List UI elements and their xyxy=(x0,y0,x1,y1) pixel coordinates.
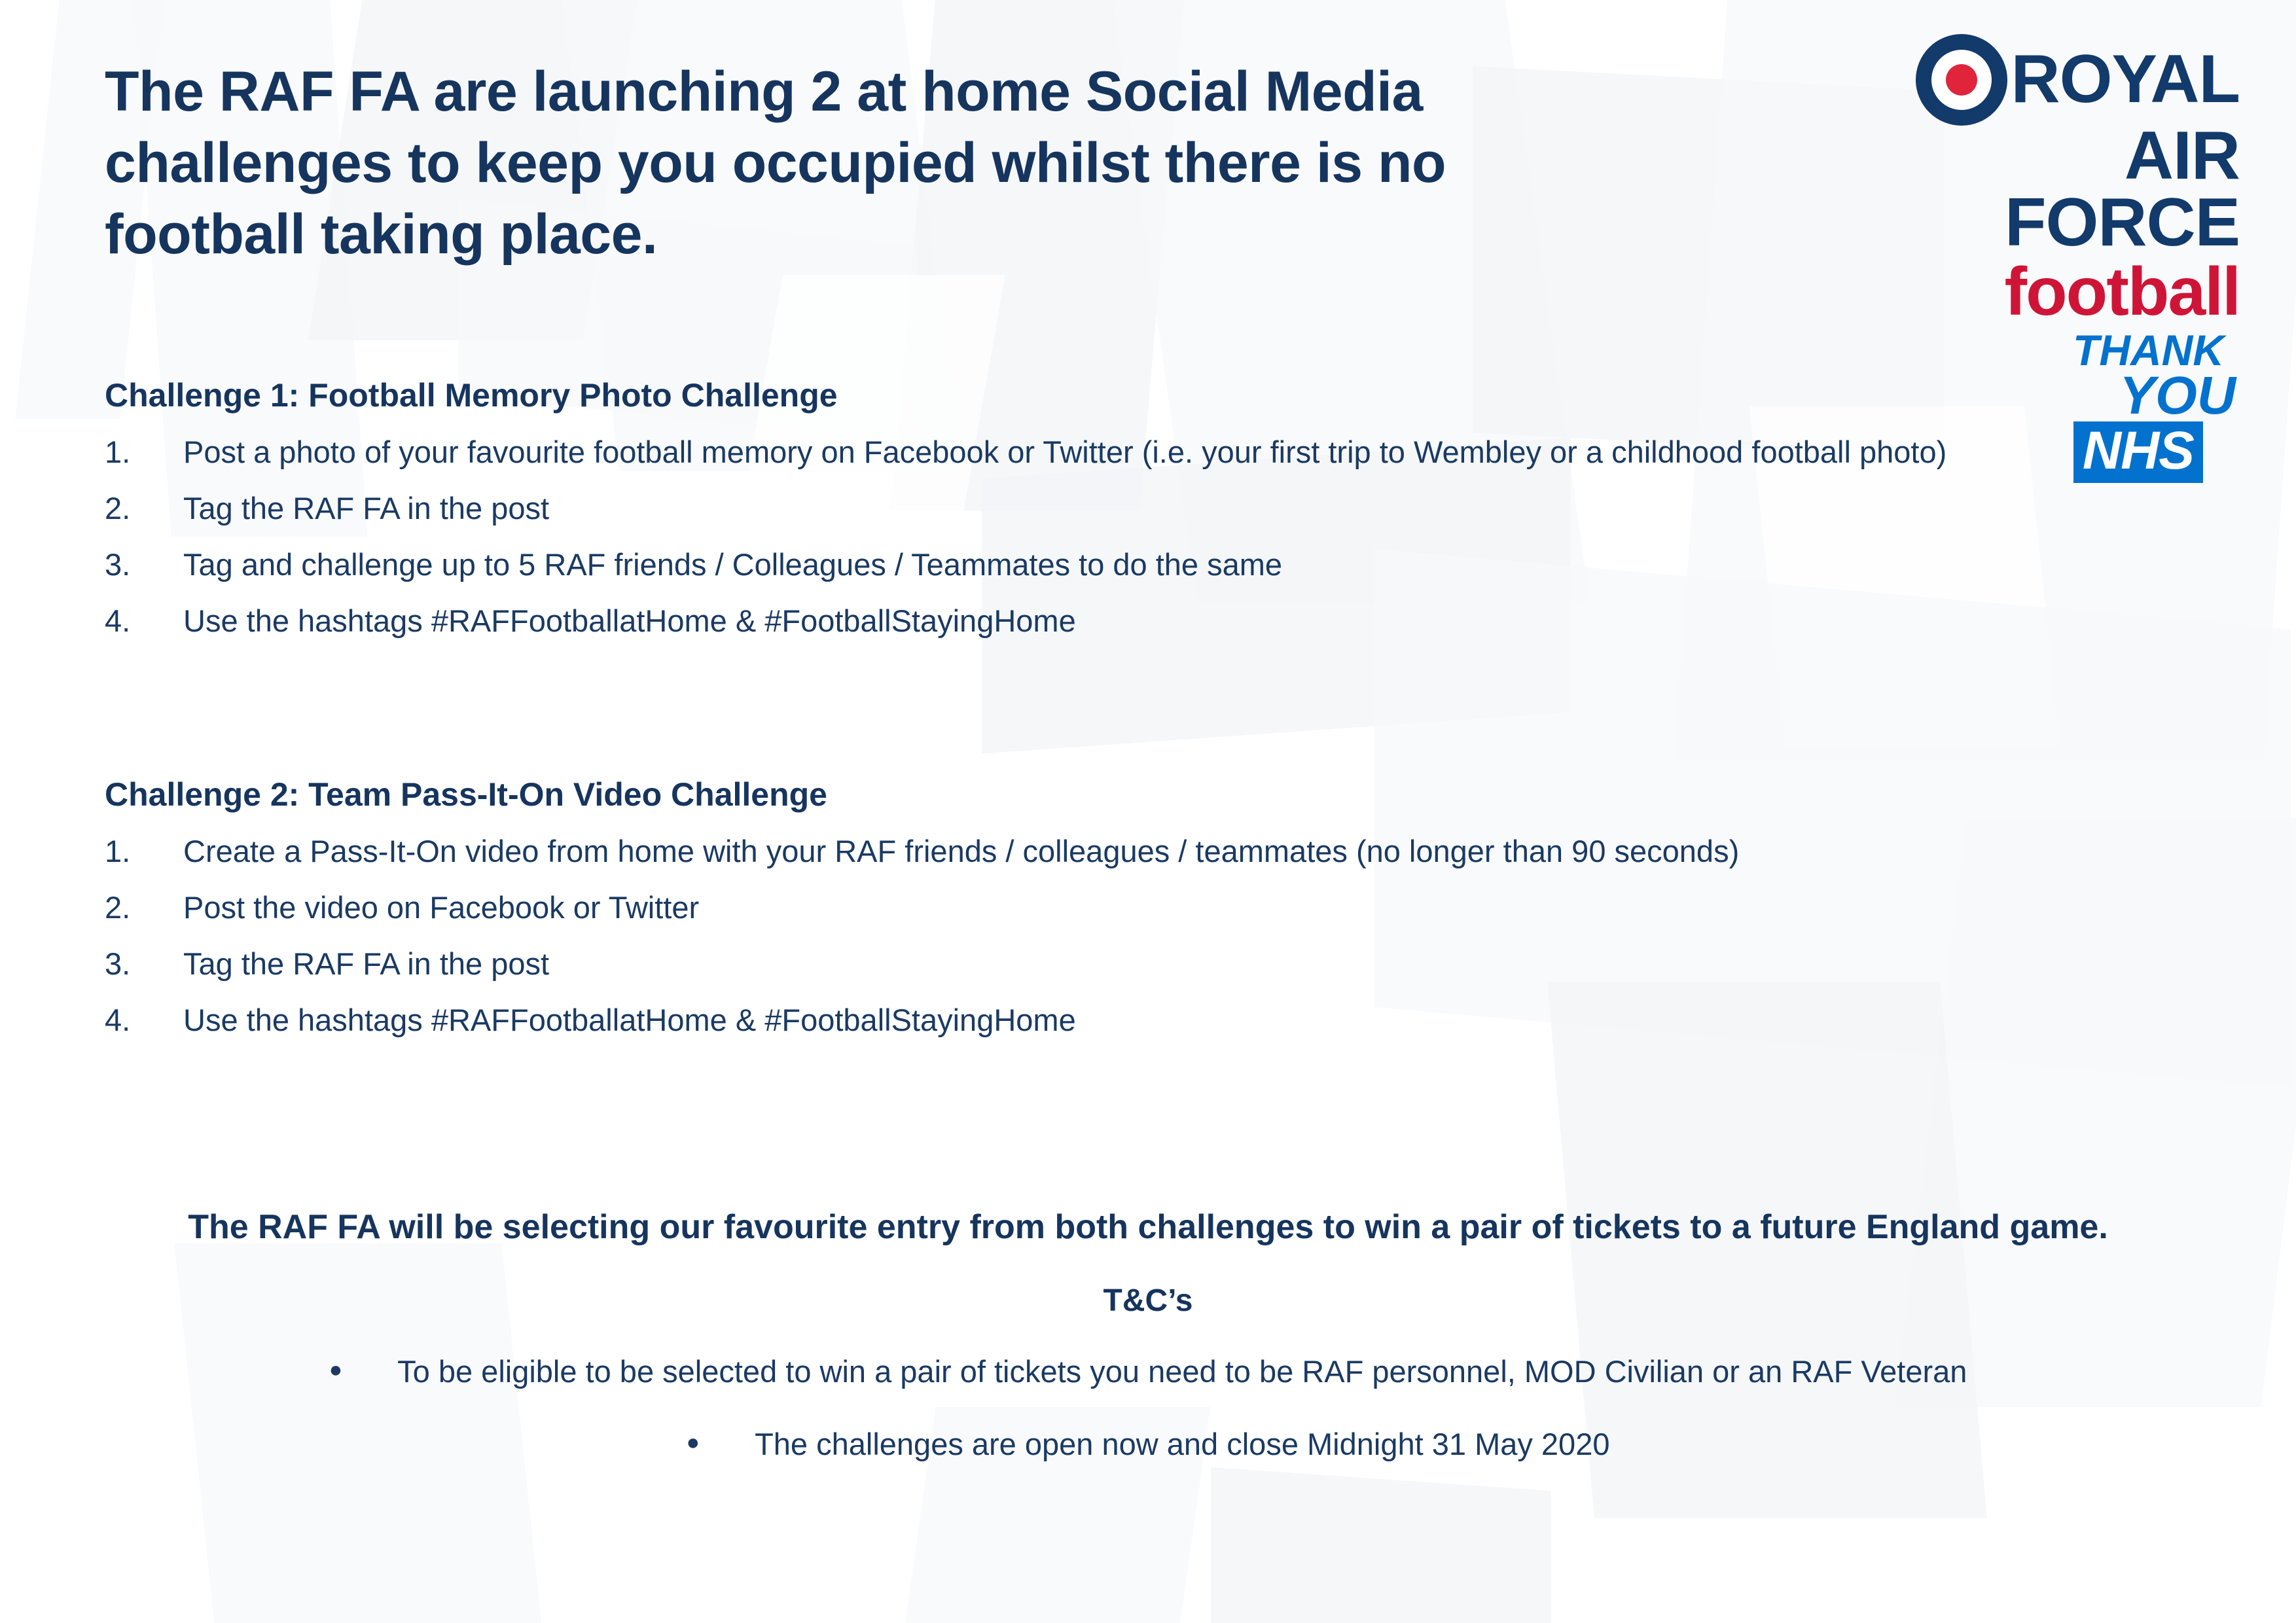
logo-text-football: football xyxy=(1873,258,2240,326)
terms-list: ● To be eligible to be selected to win a… xyxy=(0,1351,2296,1497)
slide-canvas: The RAF FA are launching 2 at home Socia… xyxy=(0,0,2296,1623)
logo-text-royal: ROYAL xyxy=(2011,47,2240,113)
step-number: 3. xyxy=(105,545,183,584)
list-item: 1. Post a photo of your favourite footba… xyxy=(105,433,2003,472)
terms-heading: T&C’s xyxy=(0,1283,2296,1319)
challenge-2-heading: Challenge 2: Team Pass-It-On Video Chall… xyxy=(105,776,2003,813)
roundel-white-ring xyxy=(1931,50,1992,110)
step-text: Tag the RAF FA in the post xyxy=(183,489,2003,528)
challenge-1-heading: Challenge 1: Football Memory Photo Chall… xyxy=(105,376,2003,414)
logo-text-air-force: AIR FORCE xyxy=(1873,123,2240,257)
step-text: Post the video on Facebook or Twitter xyxy=(183,888,2003,927)
step-text: Create a Pass-It-On video from home with… xyxy=(183,832,2003,871)
list-item: 3. Tag and challenge up to 5 RAF friends… xyxy=(105,545,2003,584)
step-text: Use the hashtags #RAFFootballatHome & #F… xyxy=(183,1001,2003,1040)
challenge-1-section: Challenge 1: Football Memory Photo Chall… xyxy=(105,376,2003,658)
step-number: 4. xyxy=(105,601,183,641)
list-item: 1. Create a Pass-It-On video from home w… xyxy=(105,832,2003,871)
step-number: 1. xyxy=(105,832,183,871)
prize-statement: The RAF FA will be selecting our favouri… xyxy=(0,1207,2296,1247)
list-item: 3. Tag the RAF FA in the post xyxy=(105,944,2003,984)
terms-item-text: To be eligible to be selected to win a p… xyxy=(397,1351,1967,1391)
step-text: Use the hashtags #RAFFootballatHome & #F… xyxy=(183,601,2003,641)
list-item: 4. Use the hashtags #RAFFootballatHome &… xyxy=(105,1001,2003,1040)
bullet-icon: ● xyxy=(687,1431,700,1454)
raf-roundel-icon xyxy=(1916,34,2007,126)
step-number: 2. xyxy=(105,489,183,528)
page-title: The RAF FA are launching 2 at home Socia… xyxy=(105,56,1623,271)
challenge-1-steps: 1. Post a photo of your favourite footba… xyxy=(105,433,2003,641)
step-number: 1. xyxy=(105,433,183,472)
challenge-2-section: Challenge 2: Team Pass-It-On Video Chall… xyxy=(105,776,2003,1058)
logo-text-thank: THANK xyxy=(1873,329,2240,372)
step-text: Post a photo of your favourite football … xyxy=(183,433,2003,472)
list-item: ● The challenges are open now and close … xyxy=(0,1424,2296,1464)
roundel-red-core xyxy=(1946,64,1977,96)
logo-text-nhs: NHS xyxy=(2073,421,2203,483)
step-number: 2. xyxy=(105,888,183,927)
list-item: 4. Use the hashtags #RAFFootballatHome &… xyxy=(105,601,2003,641)
step-text: Tag and challenge up to 5 RAF friends / … xyxy=(183,545,2003,584)
terms-item-text: The challenges are open now and close Mi… xyxy=(755,1424,1609,1464)
logo-line-royal-row: ROYAL xyxy=(1873,34,2240,126)
step-number: 3. xyxy=(105,944,183,984)
list-item: 2. Post the video on Facebook or Twitter xyxy=(105,888,2003,927)
challenge-2-steps: 1. Create a Pass-It-On video from home w… xyxy=(105,832,2003,1041)
step-number: 4. xyxy=(105,1001,183,1040)
bullet-icon: ● xyxy=(329,1359,343,1381)
step-text: Tag the RAF FA in the post xyxy=(183,944,2003,984)
list-item: ● To be eligible to be selected to win a… xyxy=(0,1351,2296,1391)
list-item: 2. Tag the RAF FA in the post xyxy=(105,489,2003,528)
